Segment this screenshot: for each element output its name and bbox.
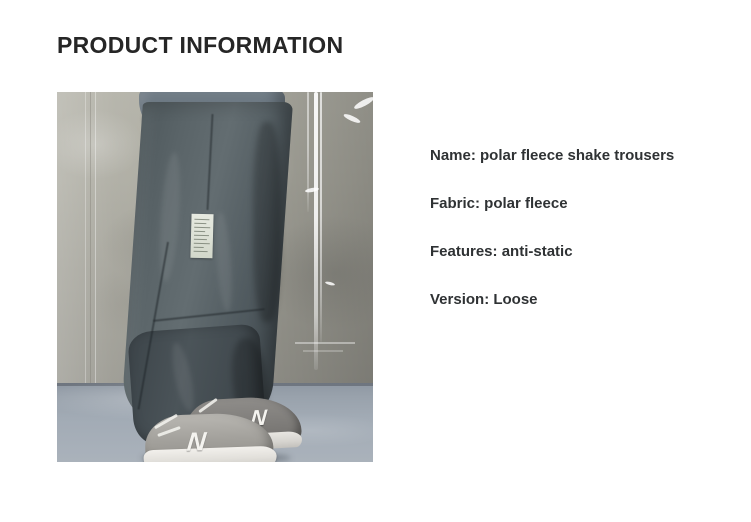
label-text-line — [194, 239, 207, 240]
label-text-line — [194, 231, 205, 232]
label-text-line — [194, 223, 206, 224]
paint-drip-mark — [307, 92, 309, 212]
label-text-line — [194, 219, 209, 220]
wall-scuff-mark — [295, 342, 355, 344]
label-text-line — [194, 251, 208, 252]
wall-seam-line — [95, 92, 96, 384]
label-text-line — [194, 243, 210, 244]
paint-drip-mark — [320, 92, 322, 342]
spec-item-version: Version: Loose — [430, 290, 710, 310]
label-text-line — [194, 247, 204, 248]
page-title: PRODUCT INFORMATION — [57, 32, 343, 59]
spec-item-name: Name: polar fleece shake trousers — [430, 146, 710, 166]
spec-item-fabric: Fabric: polar fleece — [430, 194, 710, 214]
product-photo: N N — [57, 92, 373, 462]
paint-drip-mark — [314, 92, 318, 370]
trouser-shadow — [253, 122, 281, 322]
label-text-line — [194, 235, 209, 236]
wall-seam-line — [90, 92, 91, 384]
label-text-line — [194, 227, 210, 228]
wall-scuff-mark — [303, 350, 343, 352]
care-label-patch — [190, 214, 213, 259]
product-information-page: PRODUCT INFORMATION — [0, 0, 751, 522]
sneaker-midsole — [143, 446, 277, 462]
wall-seam-line — [85, 92, 86, 384]
spec-item-features: Features: anti-static — [430, 242, 710, 262]
product-spec-list: Name: polar fleece shake trousers Fabric… — [430, 146, 710, 310]
new-balance-logo-icon: N — [185, 426, 207, 458]
